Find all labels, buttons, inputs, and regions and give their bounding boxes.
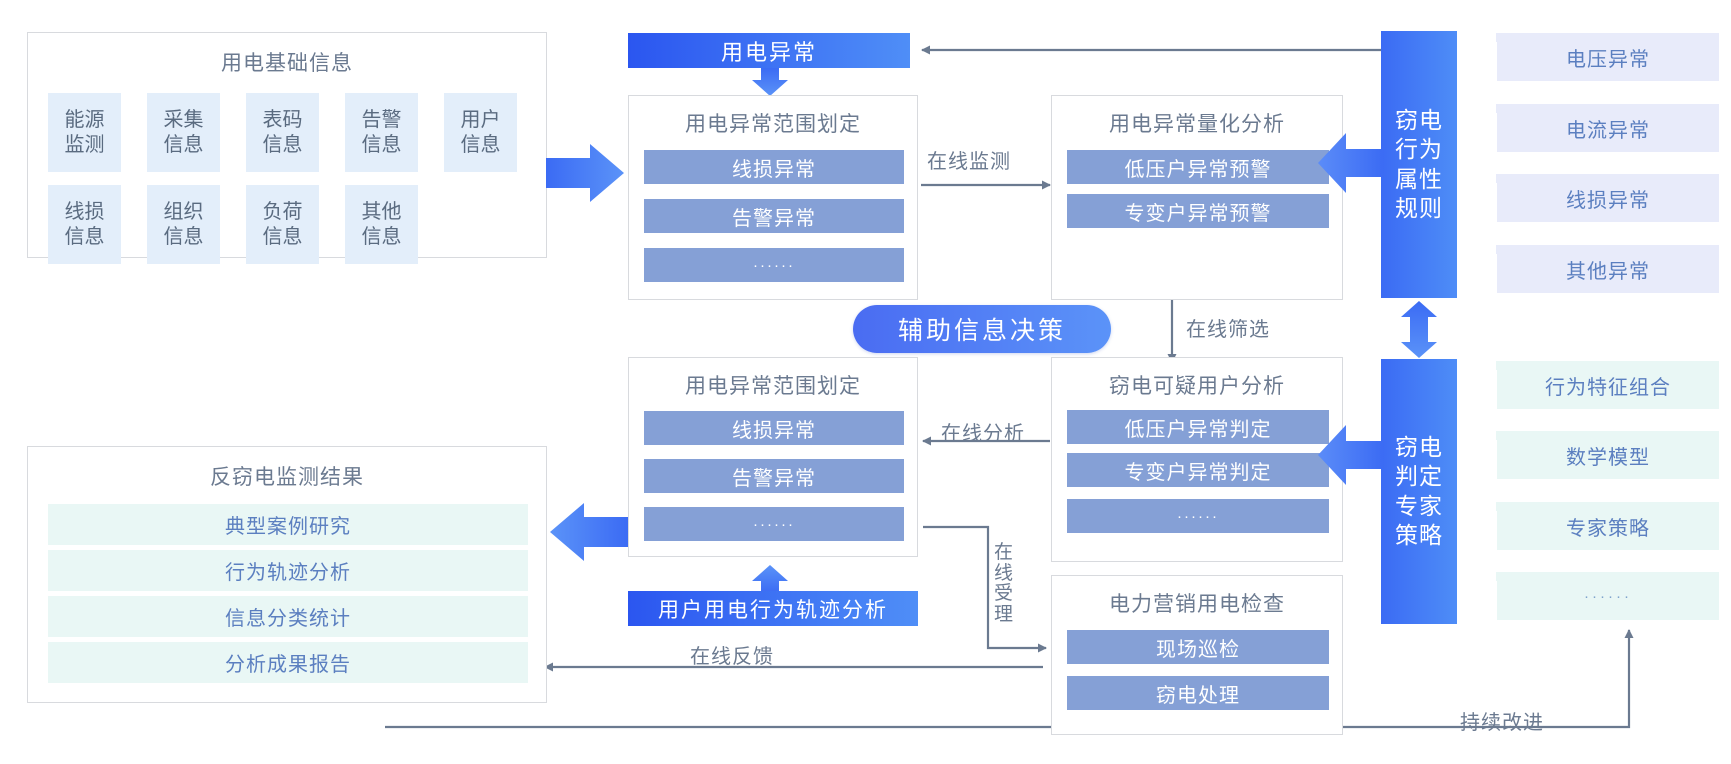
result-row-case-study[interactable]: 典型案例研究 (48, 504, 528, 545)
notch-icon (1496, 245, 1528, 281)
scope-bottom-title: 用电异常范围划定 (629, 370, 917, 400)
inspect-card: 电力营销用电检查 现场巡检 窃电处理 (1051, 575, 1343, 735)
chip-collect-info[interactable]: 采集信息 (147, 93, 220, 172)
label-online-analyze: 在线分析 (941, 417, 1025, 446)
arrow-rule-to-quant (1318, 131, 1384, 195)
result-card: 反窃电监测结果 典型案例研究 行为轨迹分析 信息分类统计 分析成果报告 (27, 446, 547, 703)
label-online-monitor: 在线监测 (927, 145, 1011, 174)
notch-icon (1496, 33, 1528, 69)
chip-alarm-info[interactable]: 告警信息 (345, 93, 418, 172)
decision-pill[interactable]: 辅助信息决策 (853, 305, 1111, 353)
label-online-feedback: 在线反馈 (690, 640, 774, 669)
rule-item-other-anomaly-label: 其他异常 (1566, 255, 1650, 284)
arrow-basic-to-scope (546, 142, 626, 204)
expert-item-behavior-feature[interactable]: 行为特征组合 (1497, 361, 1719, 409)
sidebar-expert-line-2: 专家 (1395, 492, 1443, 521)
result-row-analysis-report[interactable]: 分析成果报告 (48, 642, 528, 683)
label-online-filter: 在线筛选 (1186, 313, 1270, 342)
expert-item-more[interactable]: ······ (1497, 572, 1719, 620)
label-continuous-improve: 持续改进 (1460, 706, 1544, 735)
basic-info-title: 用电基础信息 (28, 47, 546, 77)
scope-top-row-alarm[interactable]: 告警异常 (644, 199, 904, 233)
suspect-row-lv-judge[interactable]: 低压户异常判定 (1067, 410, 1329, 444)
scope-bottom-card: 用电异常范围划定 线损异常 告警异常 ······ (628, 357, 918, 557)
rule-item-other-anomaly[interactable]: 其他异常 (1497, 245, 1719, 293)
basic-info-card: 用电基础信息 能源监测 采集信息 表码信息 告警信息 用户信息 线损信息 组织信… (27, 32, 547, 258)
suspect-title: 窃电可疑用户分析 (1052, 370, 1342, 400)
sidebar-theft-rule-line-3: 规则 (1395, 194, 1443, 223)
sidebar-expert-strategy[interactable]: 窃电 判定 专家 策略 (1381, 359, 1457, 624)
result-row-classify-stat[interactable]: 信息分类统计 (48, 596, 528, 637)
notch-icon (1496, 502, 1528, 538)
expert-item-math-model[interactable]: 数学模型 (1497, 431, 1719, 479)
chip-other-info[interactable]: 其他信息 (345, 185, 418, 264)
chip-energy-monitor[interactable]: 能源监测 (48, 93, 121, 172)
arrow-banner-down (752, 68, 788, 96)
chip-line-loss-info[interactable]: 线损信息 (48, 185, 121, 264)
rule-item-current-anomaly-label: 电流异常 (1566, 114, 1650, 143)
inspect-row-theft-handling[interactable]: 窃电处理 (1067, 676, 1329, 710)
anomaly-banner[interactable]: 用电异常 (628, 33, 910, 68)
notch-icon (1496, 572, 1528, 608)
label-online-accept: 在线受理 (993, 543, 1015, 625)
sidebar-theft-rule-line-0: 窃电 (1395, 106, 1443, 135)
notch-icon (1496, 431, 1528, 467)
notch-icon (1496, 174, 1528, 210)
arrow-sidebars-bidirectional (1401, 301, 1437, 358)
scope-bottom-row-more[interactable]: ······ (644, 507, 904, 541)
sidebar-expert-line-1: 判定 (1395, 462, 1443, 491)
quant-row-special-warning[interactable]: 专变户异常预警 (1067, 194, 1329, 228)
rule-item-voltage-anomaly-label: 电压异常 (1566, 43, 1650, 72)
arrow-expert-to-suspect (1318, 423, 1384, 487)
scope-top-row-more[interactable]: ······ (644, 248, 904, 282)
arrow-scope-to-result (548, 501, 628, 563)
inspect-row-site-patrol[interactable]: 现场巡检 (1067, 630, 1329, 664)
diagram-canvas: 用电基础信息 能源监测 采集信息 表码信息 告警信息 用户信息 线损信息 组织信… (0, 0, 1731, 764)
rule-item-line-loss-anomaly-label: 线损异常 (1566, 184, 1650, 213)
expert-item-expert-strategy[interactable]: 专家策略 (1497, 502, 1719, 550)
chip-load-info[interactable]: 负荷信息 (246, 185, 319, 264)
scope-bottom-row-line-loss[interactable]: 线损异常 (644, 411, 904, 445)
result-title: 反窃电监测结果 (28, 461, 546, 491)
expert-item-expert-strategy-label: 专家策略 (1566, 512, 1650, 541)
sidebar-theft-rule-line-1: 行为 (1395, 135, 1443, 164)
chip-user-info[interactable]: 用户信息 (444, 93, 517, 172)
arrow-track-up (752, 565, 788, 593)
scope-bottom-row-alarm[interactable]: 告警异常 (644, 459, 904, 493)
expert-item-math-model-label: 数学模型 (1566, 441, 1650, 470)
scope-top-card: 用电异常范围划定 线损异常 告警异常 ······ (628, 95, 918, 300)
scope-top-title: 用电异常范围划定 (629, 108, 917, 138)
notch-icon (1496, 361, 1528, 397)
quant-title: 用电异常量化分析 (1052, 108, 1342, 138)
sidebar-expert-line-0: 窃电 (1395, 433, 1443, 462)
suspect-row-special-judge[interactable]: 专变户异常判定 (1067, 453, 1329, 487)
result-row-behavior-track[interactable]: 行为轨迹分析 (48, 550, 528, 591)
inspect-title: 电力营销用电检查 (1052, 588, 1342, 618)
chip-org-info[interactable]: 组织信息 (147, 185, 220, 264)
sidebar-expert-line-3: 策略 (1395, 521, 1443, 550)
suspect-row-more[interactable]: ······ (1067, 499, 1329, 533)
chip-meter-code-info[interactable]: 表码信息 (246, 93, 319, 172)
rule-item-line-loss-anomaly[interactable]: 线损异常 (1497, 174, 1719, 222)
quant-card: 用电异常量化分析 低压户异常预警 专变户异常预警 (1051, 95, 1343, 300)
track-banner[interactable]: 用户用电行为轨迹分析 (628, 591, 918, 626)
expert-item-more-label: ······ (1584, 588, 1632, 605)
expert-item-behavior-feature-label: 行为特征组合 (1545, 371, 1671, 400)
quant-row-lv-warning[interactable]: 低压户异常预警 (1067, 150, 1329, 184)
notch-icon (1496, 104, 1528, 140)
rule-item-current-anomaly[interactable]: 电流异常 (1497, 104, 1719, 152)
suspect-card: 窃电可疑用户分析 低压户异常判定 专变户异常判定 ······ (1051, 357, 1343, 562)
sidebar-theft-rule[interactable]: 窃电 行为 属性 规则 (1381, 31, 1457, 298)
rule-item-voltage-anomaly[interactable]: 电压异常 (1497, 33, 1719, 81)
scope-top-row-line-loss[interactable]: 线损异常 (644, 150, 904, 184)
sidebar-theft-rule-line-2: 属性 (1395, 165, 1443, 194)
